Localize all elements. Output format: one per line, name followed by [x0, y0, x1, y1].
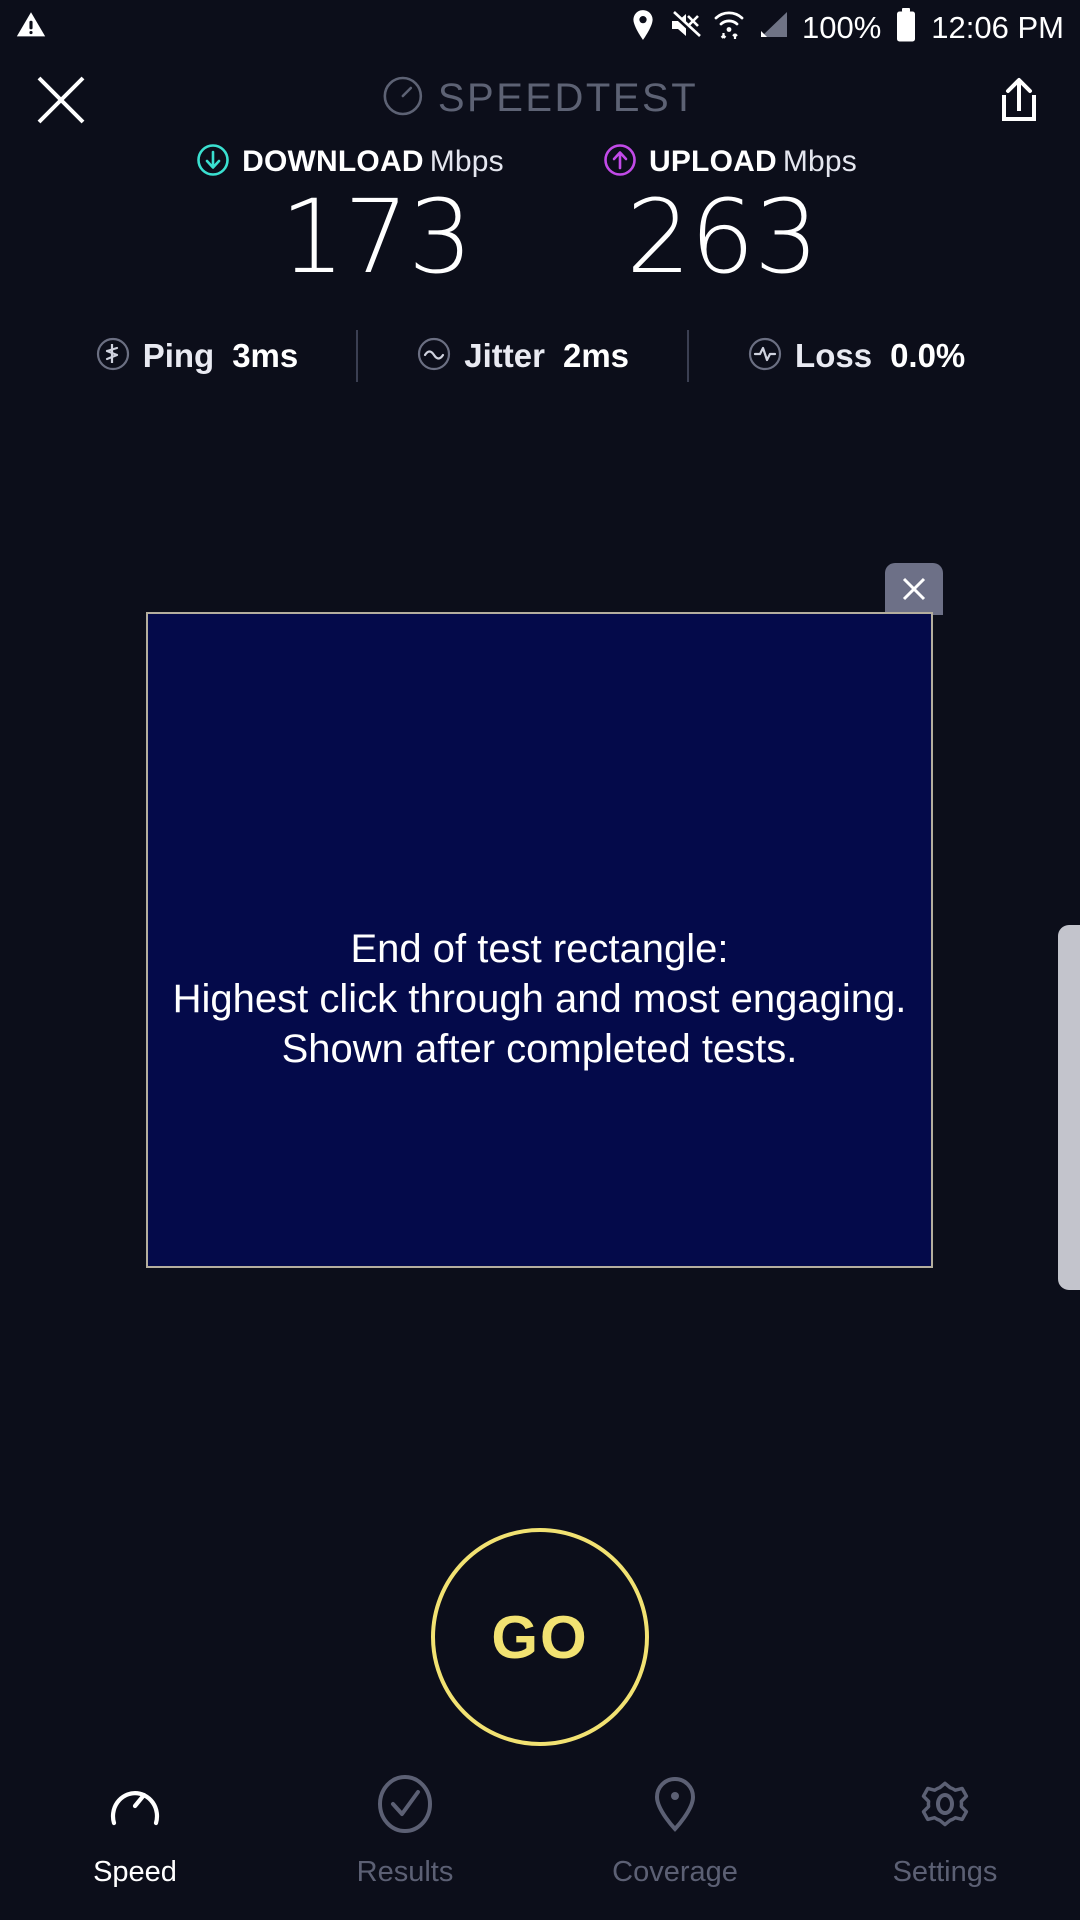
check-circle-icon	[374, 1773, 436, 1840]
share-icon[interactable]	[990, 71, 1048, 129]
ad-text: End of test rectangle: Highest click thr…	[148, 924, 931, 1074]
ping-jitter-loss-row: Ping 3ms Jitter 2ms	[0, 330, 1080, 382]
upload-label: UPLOADMbps	[649, 145, 857, 179]
brand-title: SPEEDTEST	[438, 76, 698, 121]
jitter-icon	[416, 336, 452, 377]
nav-item-results[interactable]: Results	[270, 1760, 540, 1920]
loss-icon	[747, 336, 783, 377]
mute-icon	[669, 10, 701, 45]
upload-unit: Mbps	[783, 145, 857, 178]
nav-item-speed[interactable]: Speed	[0, 1760, 270, 1920]
speedtest-app-screen: 100% 12:06 PM SPEEDTEST	[0, 0, 1080, 1920]
battery-percent: 100%	[802, 10, 881, 46]
results-panel: DOWNLOADMbps 173 UPLOADMbps	[0, 140, 1080, 290]
brand-logo: SPEEDTEST	[382, 75, 698, 122]
ad-line-1: End of test rectangle:	[148, 924, 931, 974]
close-icon[interactable]	[34, 73, 88, 127]
download-label: DOWNLOADMbps	[242, 145, 504, 179]
loss-label: Loss	[795, 337, 872, 375]
loss-metric: Loss 0.0%	[747, 336, 965, 377]
go-button[interactable]: GO	[431, 1528, 649, 1746]
ping-value: 3ms	[232, 337, 298, 375]
gear-icon	[914, 1773, 976, 1840]
nav-label-results: Results	[357, 1856, 454, 1889]
download-label-text: DOWNLOAD	[242, 145, 424, 178]
jitter-label: Jitter	[464, 337, 545, 375]
speedometer-icon	[104, 1773, 166, 1840]
ad-line-3: Shown after completed tests.	[148, 1024, 931, 1074]
upload-label-text: UPLOAD	[649, 145, 777, 178]
signal-icon	[757, 10, 789, 45]
jitter-value: 2ms	[563, 337, 629, 375]
status-bar: 100% 12:06 PM	[0, 0, 1080, 55]
go-button-label: GO	[491, 1603, 588, 1672]
download-arrow-icon	[196, 143, 230, 182]
divider	[356, 330, 358, 382]
ad-line-2: Highest click through and most engaging.	[148, 974, 931, 1024]
loss-value: 0.0%	[890, 337, 965, 375]
download-value: 173	[186, 186, 566, 290]
upload-metric: UPLOADMbps 263	[540, 140, 920, 290]
vertical-scrollbar[interactable]	[1058, 925, 1080, 1290]
nav-item-coverage[interactable]: Coverage	[540, 1760, 810, 1920]
status-bar-clock: 12:06 PM	[931, 10, 1064, 46]
warning-triangle-icon	[14, 8, 48, 47]
app-bar: SPEEDTEST	[0, 55, 1080, 140]
upload-arrow-icon	[603, 143, 637, 182]
wifi-icon	[714, 9, 744, 46]
speed-values-row: DOWNLOADMbps 173 UPLOADMbps	[0, 140, 1080, 290]
download-metric: DOWNLOADMbps 173	[160, 140, 540, 290]
ping-metric: Ping 3ms	[95, 336, 299, 377]
nav-item-settings[interactable]: Settings	[810, 1760, 1080, 1920]
battery-full-icon	[894, 8, 918, 47]
speedometer-icon	[382, 75, 424, 122]
ad-close-button[interactable]	[885, 563, 943, 615]
bottom-navigation: Speed Results Coverage	[0, 1760, 1080, 1920]
location-icon	[630, 9, 656, 46]
close-icon	[899, 574, 929, 604]
ping-label: Ping	[143, 337, 215, 375]
upload-value: 263	[532, 186, 912, 290]
nav-label-coverage: Coverage	[612, 1856, 738, 1889]
jitter-metric: Jitter 2ms	[416, 336, 629, 377]
map-pin-icon	[644, 1773, 706, 1840]
download-unit: Mbps	[430, 145, 504, 178]
status-bar-icons: 100% 12:06 PM	[630, 0, 1064, 55]
ping-icon	[95, 336, 131, 377]
nav-label-speed: Speed	[93, 1856, 177, 1889]
divider	[687, 330, 689, 382]
nav-label-settings: Settings	[893, 1856, 998, 1889]
advertisement-banner[interactable]: End of test rectangle: Highest click thr…	[146, 612, 933, 1268]
